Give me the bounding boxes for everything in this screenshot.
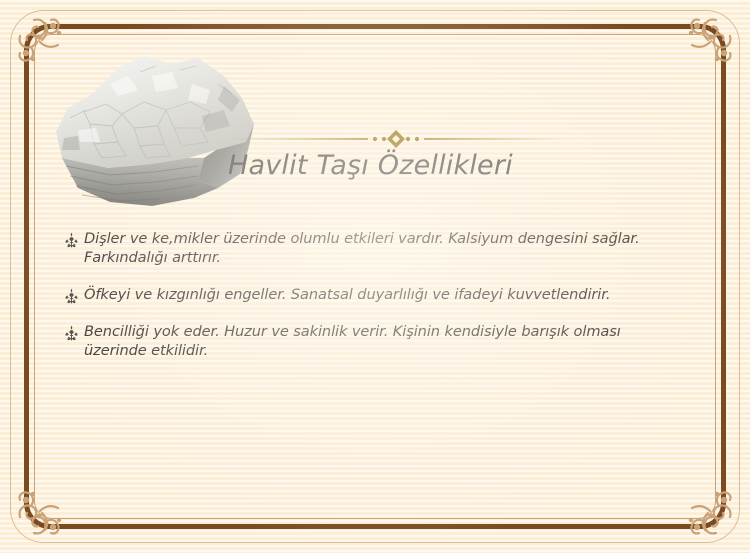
decorative-info-card: Havlit Taşı Özellikleri Dişler ve ke,mik… [0, 0, 750, 553]
page-title: Havlit Taşı Özellikleri [228, 150, 558, 181]
list-item-text: Dişler ve ke,mikler üzerinde olumlu etki… [84, 230, 684, 268]
list-item-text: Bencilliği yok eder. Huzur ve sakinlik v… [84, 323, 684, 361]
list-item-text: Öfkeyi ve kızgınlığı engeller. Sanatsal … [84, 286, 684, 305]
diamond-divider-icon [228, 128, 564, 150]
fleur-de-lis-bullet-icon [64, 288, 84, 304]
properties-list: Dişler ve ke,mikler üzerinde olumlu etki… [64, 230, 684, 379]
list-item: Öfkeyi ve kızgınlığı engeller. Sanatsal … [64, 286, 684, 305]
list-item: Dişler ve ke,mikler üzerinde olumlu etki… [64, 230, 684, 268]
fleur-de-lis-bullet-icon [64, 232, 84, 248]
list-item: Bencilliği yok eder. Huzur ve sakinlik v… [64, 323, 684, 361]
fleur-de-lis-bullet-icon [64, 325, 84, 341]
